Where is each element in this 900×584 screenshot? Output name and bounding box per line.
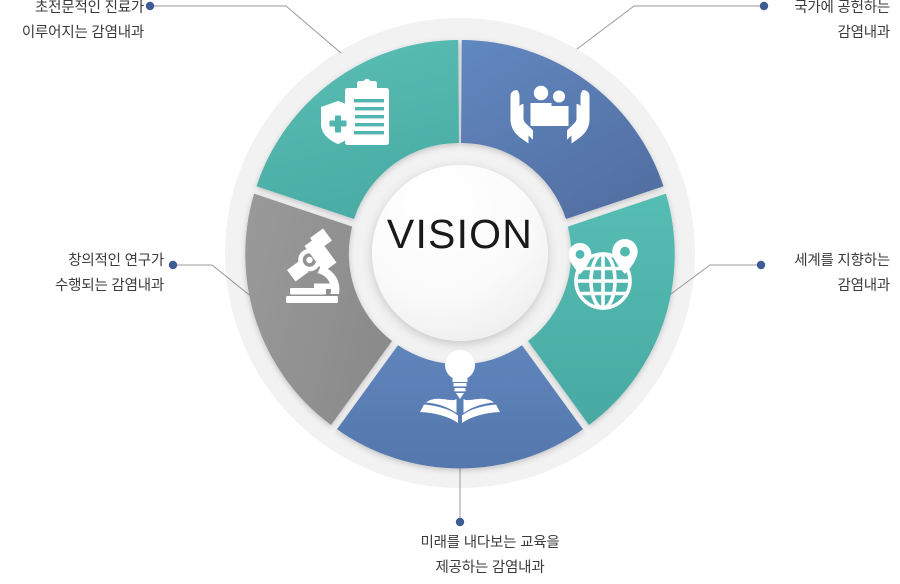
vision-title: VISION — [380, 211, 540, 258]
callout-top-right: 국가에 공헌하는 감염내과 — [780, 0, 890, 46]
connector-dot-bottom — [456, 518, 464, 526]
connector-dot-right — [757, 261, 765, 269]
connector-dot-top-left — [146, 2, 154, 10]
callout-left: 창의적인 연구가 수행되는 감염내과 — [40, 249, 164, 299]
connector-dot-left — [169, 261, 177, 269]
connector-dot-top-right — [760, 2, 768, 10]
connector-top-left — [152, 6, 341, 53]
connector-top-right — [577, 6, 762, 49]
vision-diagram: VISION 초전문적인 진료가 이루어지는 감염내과 국가에 공헌하는 감염내… — [0, 0, 900, 584]
callout-right: 세계를 지향하는 감염내과 — [780, 249, 890, 299]
callout-bottom: 미래를 내다보는 교육을 제공하는 감염내과 — [372, 531, 608, 581]
callout-top-left: 초전문적인 진료가 이루어지는 감염내과 — [12, 0, 144, 46]
